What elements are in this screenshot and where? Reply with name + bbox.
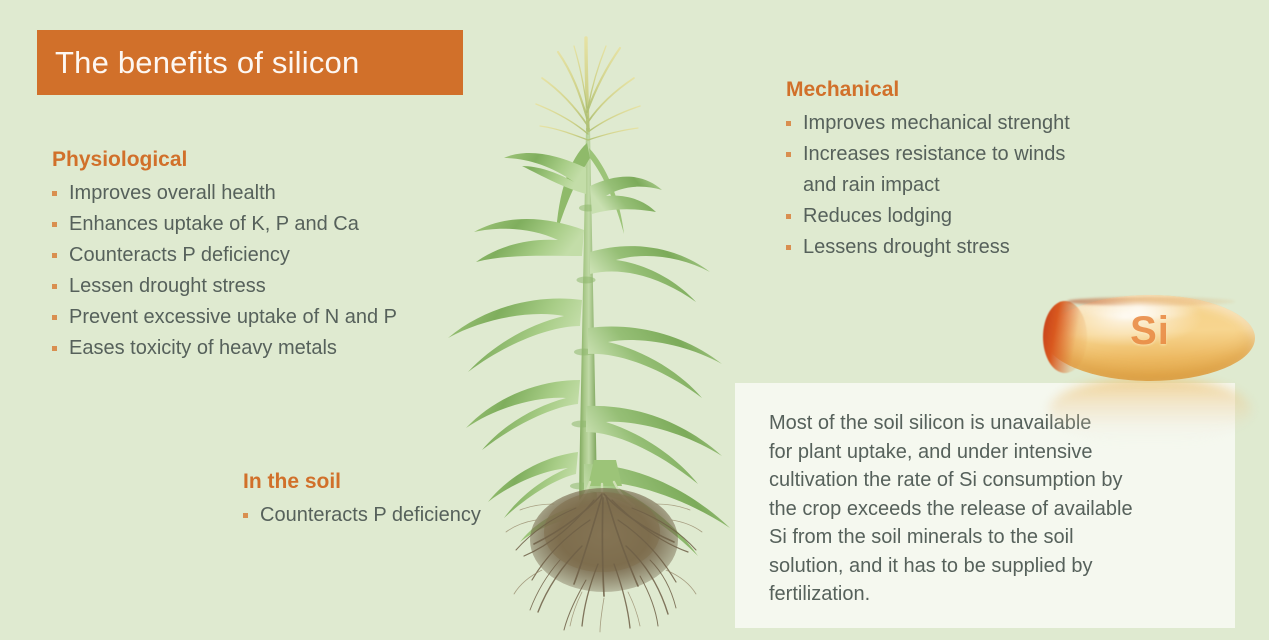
list-item: Eases toxicity of heavy metals	[52, 333, 472, 364]
bullet-square-icon	[786, 121, 791, 126]
capsule-si-label: Si	[1035, 309, 1265, 354]
section-physiological-list: Improves overall health Enhances uptake …	[52, 178, 472, 364]
bullet-square-icon	[52, 346, 57, 351]
bullet-square-icon	[786, 152, 791, 157]
list-item: Counteracts P deficiency	[52, 240, 472, 271]
si-capsule: Si	[1035, 285, 1263, 445]
section-physiological-heading: Physiological	[52, 148, 472, 172]
title-banner: The benefits of silicon	[37, 30, 463, 95]
list-item: Reduces lodging	[786, 201, 1146, 232]
corn-plant-illustration	[430, 8, 780, 640]
capsule-reflection	[1049, 377, 1251, 443]
section-mechanical-list: Improves mechanical strenght Increases r…	[786, 108, 1146, 263]
list-item: Prevent excessive uptake of N and P	[52, 302, 472, 333]
list-item: Counteracts P deficiency	[243, 500, 543, 531]
bullet-square-icon	[52, 315, 57, 320]
infographic-canvas: The benefits of silicon	[0, 0, 1269, 640]
section-physiological: Physiological Improves overall health En…	[52, 148, 472, 364]
list-item: Enhances uptake of K, P and Ca	[52, 209, 472, 240]
list-item-label: Counteracts P deficiency	[260, 500, 543, 531]
list-item-label: Improves mechanical strenght	[803, 108, 1146, 139]
bullet-square-icon	[52, 222, 57, 227]
list-item: Improves mechanical strenght	[786, 108, 1146, 139]
section-in-the-soil-list: Counteracts P deficiency	[243, 500, 543, 531]
bullet-square-icon	[786, 214, 791, 219]
list-item-label: Prevent excessive uptake of N and P	[69, 302, 472, 333]
list-item: Improves overall health	[52, 178, 472, 209]
section-mechanical: Mechanical Improves mechanical strenght …	[786, 78, 1146, 263]
list-item-label: Enhances uptake of K, P and Ca	[69, 209, 472, 240]
list-item: Lessen drought stress	[52, 271, 472, 302]
list-item: Increases resistance to winds and rain i…	[786, 139, 1146, 201]
list-item-label: Lessens drought stress	[803, 232, 1146, 263]
bullet-square-icon	[52, 253, 57, 258]
bullet-square-icon	[786, 245, 791, 250]
list-item-label: Counteracts P deficiency	[69, 240, 472, 271]
list-item-label: Lessen drought stress	[69, 271, 472, 302]
bullet-square-icon	[52, 191, 57, 196]
bullet-square-icon	[243, 513, 248, 518]
section-mechanical-heading: Mechanical	[786, 78, 1146, 102]
list-item-label: Reduces lodging	[803, 201, 1146, 232]
page-title: The benefits of silicon	[55, 45, 359, 81]
bullet-square-icon	[52, 284, 57, 289]
list-item-label: Increases resistance to winds and rain i…	[803, 139, 1146, 201]
list-item-label: Eases toxicity of heavy metals	[69, 333, 472, 364]
list-item: Lessens drought stress	[786, 232, 1146, 263]
section-in-the-soil-heading: In the soil	[243, 470, 543, 494]
list-item-label: Improves overall health	[69, 178, 472, 209]
section-in-the-soil: In the soil Counteracts P deficiency	[243, 470, 543, 531]
